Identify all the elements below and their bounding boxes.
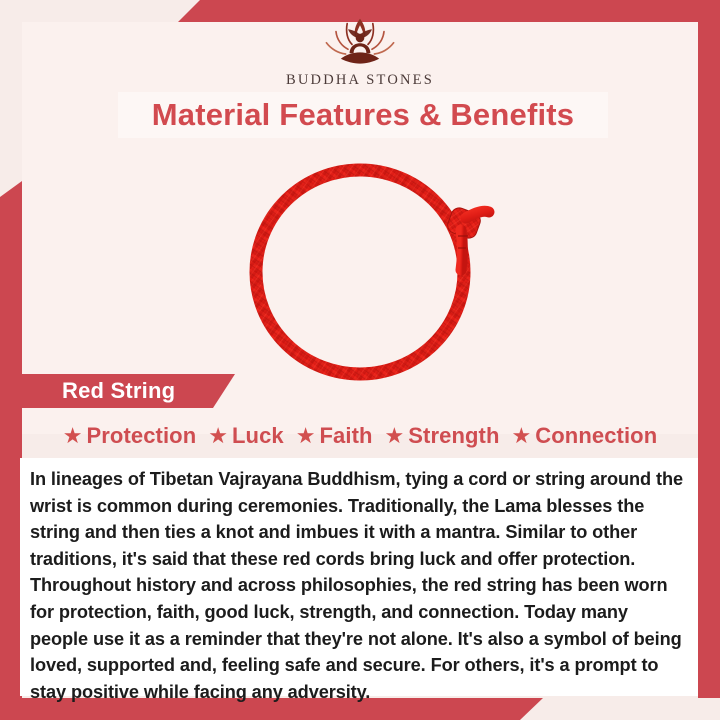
benefit-label: Faith [319, 423, 372, 449]
star-icon: ★ [385, 425, 405, 447]
star-icon: ★ [296, 425, 316, 447]
benefit-label: Protection [86, 423, 196, 449]
page-title: Material Features & Benefits [152, 97, 575, 133]
benefit-item-faith: ★ Faith [296, 423, 373, 449]
benefit-item-protection: ★ Protection [63, 423, 197, 449]
frame-right-bar [698, 22, 720, 698]
benefit-item-luck: ★ Luck [208, 423, 283, 449]
star-icon: ★ [512, 425, 532, 447]
brand-name: BUDDHA STONES [0, 72, 720, 89]
material-features-infographic: BUDDHA STONES Material Features & Benefi… [0, 0, 720, 720]
title-banner: Material Features & Benefits [118, 92, 608, 138]
product-image [230, 152, 502, 392]
star-icon: ★ [208, 425, 228, 447]
frame-left-bar [0, 181, 22, 698]
description-panel: In lineages of Tibetan Vajrayana Buddhis… [20, 458, 698, 696]
benefit-item-strength: ★ Strength [385, 423, 500, 449]
benefits-list: ★ Protection ★ Luck ★ Faith ★ Strength ★… [22, 418, 698, 454]
product-name: Red String [0, 378, 175, 404]
benefit-item-connection: ★ Connection [512, 423, 658, 449]
description-text: In lineages of Tibetan Vajrayana Buddhis… [20, 458, 698, 705]
benefit-label: Luck [232, 423, 284, 449]
benefit-label: Connection [535, 423, 657, 449]
star-icon: ★ [63, 425, 83, 447]
brand-logo: BUDDHA STONES [0, 14, 720, 89]
lotus-meditation-icon [0, 14, 720, 70]
product-name-banner: Red String [0, 374, 235, 408]
benefit-label: Strength [408, 423, 499, 449]
